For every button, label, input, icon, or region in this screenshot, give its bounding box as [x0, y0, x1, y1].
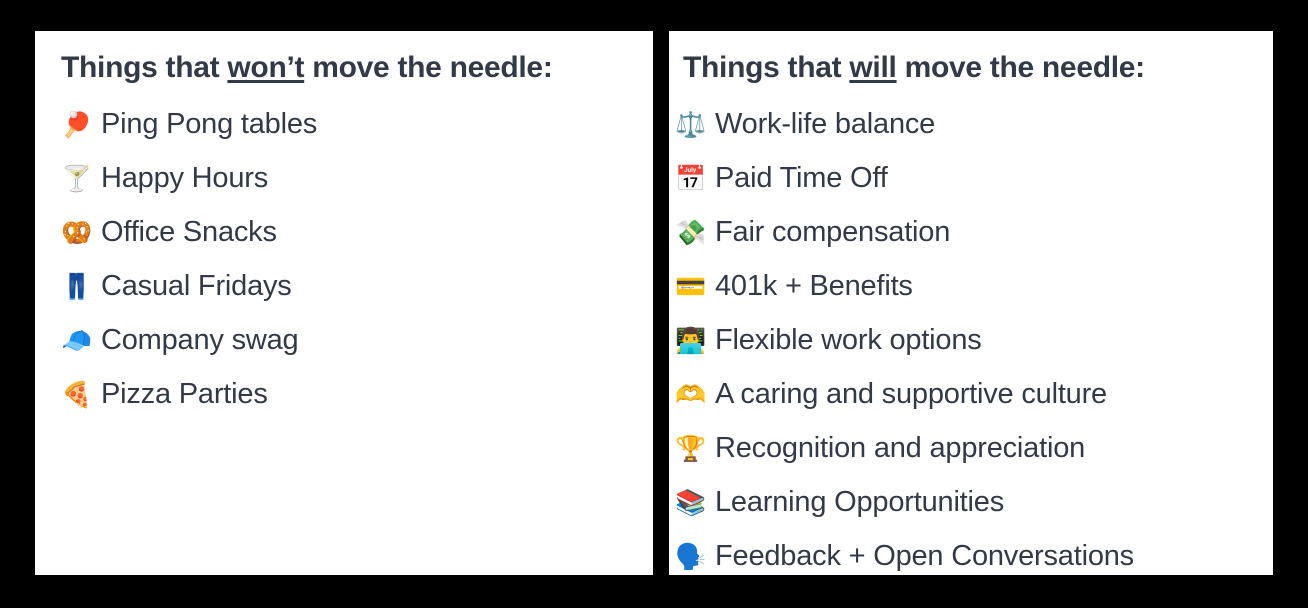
heading-suffix: move the needle:: [897, 51, 1145, 84]
calendar-icon: 📅: [675, 166, 715, 191]
list-item: 🧢 Company swag: [35, 313, 653, 367]
list-item-label: Fair compensation: [715, 218, 950, 247]
list-item: 🏆 Recognition and appreciation: [669, 421, 1273, 475]
list-item-label: Company swag: [101, 326, 298, 355]
list-item: 🍕 Pizza Parties: [35, 367, 653, 421]
heading-suffix: move the needle:: [304, 51, 552, 84]
credit-card-icon: 💳: [675, 274, 715, 299]
list-item: ⚖️ Work-life balance: [669, 97, 1273, 151]
list-item-label: Recognition and appreciation: [715, 434, 1085, 463]
list-item: 💳 401k + Benefits: [669, 259, 1273, 313]
heading-emphasis: will: [849, 51, 896, 84]
balance-scale-icon: ⚖️: [675, 112, 715, 137]
list-item-label: Happy Hours: [101, 164, 268, 193]
panel-will-move-needle: Things that will move the needle: ⚖️ Wor…: [669, 31, 1273, 575]
list-item: 🫶 A caring and supportive culture: [669, 367, 1273, 421]
list-item-label: Learning Opportunities: [715, 488, 1004, 517]
cocktail-glass-icon: 🍸: [61, 166, 101, 191]
list-item-label: Feedback + Open Conversations: [715, 542, 1134, 571]
list-item-label: Flexible work options: [715, 326, 982, 355]
person-at-laptop-icon: 👨‍💻: [675, 328, 715, 353]
slide-canvas: Things that won’t move the needle: 🏓 Pin…: [0, 0, 1308, 608]
list-item-label: 401k + Benefits: [715, 272, 913, 301]
money-with-wings-icon: 💸: [675, 220, 715, 245]
jeans-icon: 👖: [61, 274, 101, 299]
list-item: 🥨 Office Snacks: [35, 205, 653, 259]
pizza-slice-icon: 🍕: [61, 382, 101, 407]
panel-heading-wont: Things that won’t move the needle:: [35, 53, 653, 83]
item-list-wont: 🏓 Ping Pong tables 🍸 Happy Hours 🥨 Offic…: [35, 97, 653, 421]
list-item: 🏓 Ping Pong tables: [35, 97, 653, 151]
trophy-icon: 🏆: [675, 436, 715, 461]
list-item-label: Paid Time Off: [715, 164, 888, 193]
list-item-label: Office Snacks: [101, 218, 277, 247]
heart-hands-icon: 🫶: [675, 382, 715, 407]
list-item-label: A caring and supportive culture: [715, 380, 1107, 409]
billed-cap-icon: 🧢: [61, 328, 101, 353]
list-item: 🍸 Happy Hours: [35, 151, 653, 205]
list-item-label: Work-life balance: [715, 110, 935, 139]
list-item: 👨‍💻 Flexible work options: [669, 313, 1273, 367]
books-icon: 📚: [675, 490, 715, 515]
pretzel-icon: 🥨: [61, 220, 101, 245]
panel-wont-move-needle: Things that won’t move the needle: 🏓 Pin…: [35, 31, 653, 575]
list-item: 📅 Paid Time Off: [669, 151, 1273, 205]
dual-panel-frame: Things that won’t move the needle: 🏓 Pin…: [22, 18, 1286, 588]
panel-heading-will: Things that will move the needle:: [669, 53, 1273, 83]
list-item: 🗣️ Feedback + Open Conversations: [669, 529, 1273, 575]
heading-emphasis: won’t: [227, 51, 304, 84]
list-item: 💸 Fair compensation: [669, 205, 1273, 259]
item-list-will: ⚖️ Work-life balance 📅 Paid Time Off 💸 F…: [669, 97, 1273, 575]
heading-prefix: Things that: [683, 51, 849, 84]
list-item-label: Ping Pong tables: [101, 110, 317, 139]
speaking-head-icon: 🗣️: [675, 544, 715, 569]
list-item-label: Pizza Parties: [101, 380, 268, 409]
heading-prefix: Things that: [61, 51, 227, 84]
list-item: 📚 Learning Opportunities: [669, 475, 1273, 529]
ping-pong-paddle-icon: 🏓: [61, 112, 101, 137]
list-item-label: Casual Fridays: [101, 272, 292, 301]
list-item: 👖 Casual Fridays: [35, 259, 653, 313]
